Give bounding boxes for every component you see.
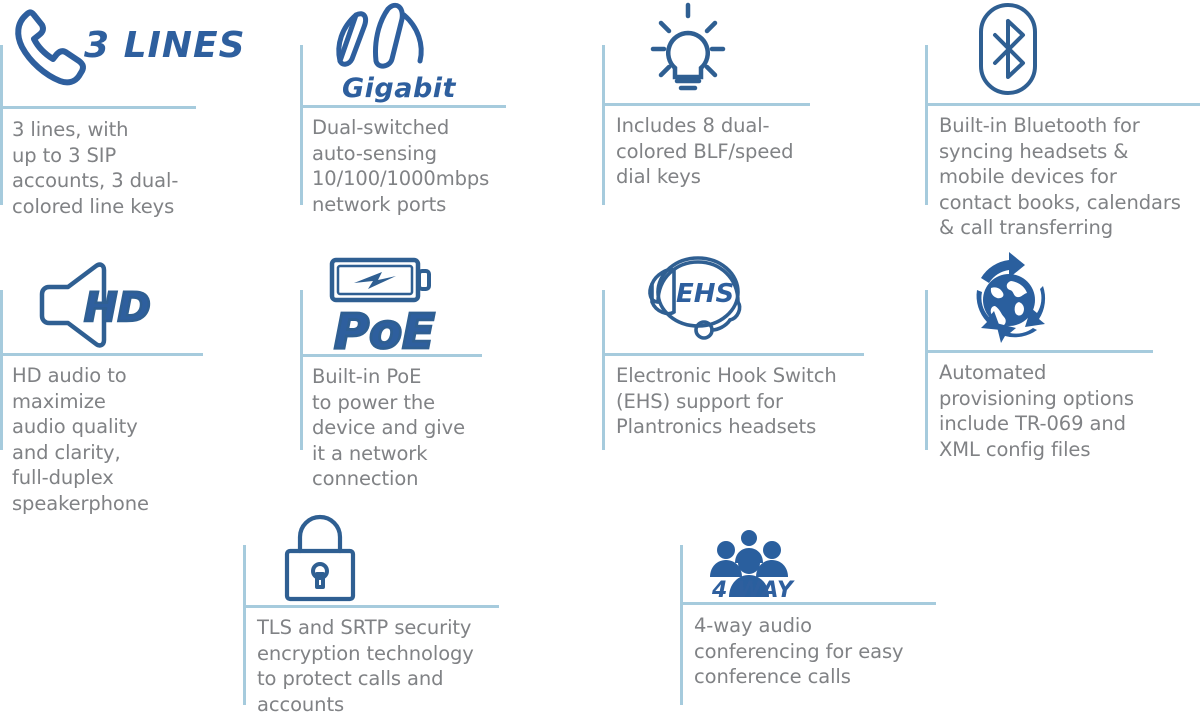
feature-text-security: TLS and SRTP security encryption technol…: [257, 615, 547, 717]
accent-vertical-rule: [925, 290, 928, 450]
padlock-icon: [273, 509, 373, 604]
accent-vertical-rule: [300, 290, 303, 450]
bluetooth-icon: [953, 1, 1063, 101]
feature-text-blf-speed-dial: Includes 8 dual- colored BLF/speed dial …: [616, 113, 866, 190]
gigabit-antenna-icon: Gigabit: [320, 3, 460, 103]
accent-vertical-rule: [925, 45, 928, 205]
hd-speaker-icon: HD: [28, 254, 158, 349]
accent-horizontal-rule: [0, 353, 203, 356]
accent-horizontal-rule: [300, 105, 506, 108]
lightbulb-icon: [628, 1, 748, 101]
people-group-icon: 4 WAY: [700, 505, 810, 600]
feature-text-conferencing: 4-way audio conferencing for easy confer…: [694, 613, 974, 690]
feature-card-bluetooth: Built-in Bluetooth for syncing headsets …: [925, 45, 1200, 245]
accent-vertical-rule: [680, 545, 683, 705]
accent-horizontal-rule: [925, 103, 1200, 106]
feature-text-bluetooth: Built-in Bluetooth for syncing headsets …: [939, 113, 1200, 241]
feature-card-ehs: EHS Electronic Hook Switch (EHS) support…: [602, 290, 902, 470]
feature-card-poe: PoE Built-in PoE to power the device and…: [300, 290, 560, 490]
feature-card-conferencing: 4 WAY 4-way audio conferencing for easy …: [680, 545, 940, 715]
accent-vertical-rule: [602, 45, 605, 205]
headset-icon: EHS: [638, 250, 768, 350]
accent-horizontal-rule: [602, 353, 864, 356]
accent-vertical-rule: [0, 290, 3, 450]
accent-vertical-rule: [300, 45, 303, 205]
accent-vertical-rule: [0, 45, 3, 205]
accent-vertical-rule: [602, 290, 605, 450]
feature-card-security: TLS and SRTP security encryption technol…: [243, 545, 513, 715]
accent-horizontal-rule: [243, 605, 499, 608]
feature-card-blf-speed-dial: Includes 8 dual- colored BLF/speed dial …: [602, 45, 862, 225]
phone-handset-icon: 3 LINES: [12, 9, 192, 87]
accent-horizontal-rule: [602, 103, 810, 106]
svg-text:HD: HD: [84, 285, 151, 331]
accent-horizontal-rule: [925, 350, 1153, 353]
feature-text-hd-audio: HD audio to maximize audio quality and c…: [12, 363, 262, 517]
battery-bolt-icon: PoE: [324, 252, 454, 357]
svg-text:4 WAY: 4 WAY: [711, 578, 795, 603]
svg-text:EHS: EHS: [676, 279, 734, 309]
globe-refresh-icon: [951, 248, 1071, 348]
feature-card-hd-audio: HD HD audio to maximize audio quality an…: [0, 290, 260, 520]
feature-card-provisioning: Automated provisioning options include T…: [925, 290, 1185, 470]
feature-text-ehs: Electronic Hook Switch (EHS) support for…: [616, 363, 916, 440]
svg-text:3 LINES: 3 LINES: [84, 25, 246, 66]
feature-text-three-lines: 3 lines, with up to 3 SIP accounts, 3 du…: [12, 117, 252, 219]
feature-text-poe: Built-in PoE to power the device and giv…: [312, 364, 562, 492]
accent-vertical-rule: [243, 545, 246, 705]
feature-card-gigabit: Gigabit Dual-switched auto-sensing 10/10…: [300, 45, 560, 225]
svg-text:Gigabit: Gigabit: [342, 73, 457, 104]
feature-card-three-lines: 3 LINES 3 lines, with up to 3 SIP accoun…: [0, 45, 260, 225]
svg-text:PoE: PoE: [334, 304, 435, 360]
feature-text-gigabit: Dual-switched auto-sensing 10/100/1000mb…: [312, 115, 562, 217]
feature-text-provisioning: Automated provisioning options include T…: [939, 360, 1199, 462]
accent-horizontal-rule: [0, 106, 196, 109]
feature-grid: 3 LINES 3 lines, with up to 3 SIP accoun…: [0, 0, 1200, 712]
